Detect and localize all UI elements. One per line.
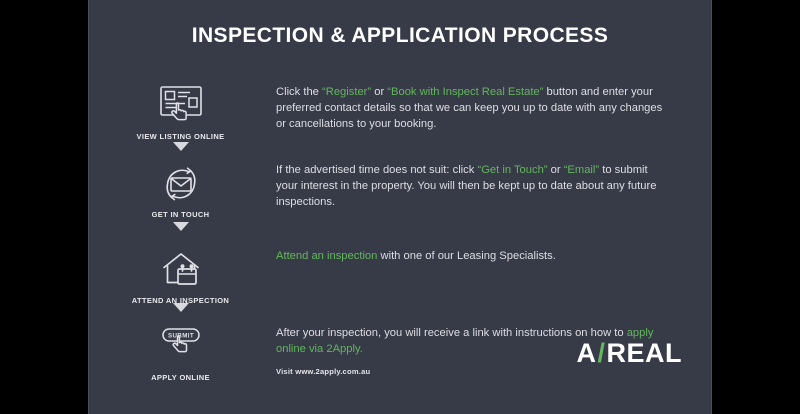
highlight-email: “Email” — [564, 164, 599, 176]
step-4-icon-column: SUBMIT APPLY ONLINE — [88, 325, 273, 382]
step-2-icon-column: GET IN TOUCH — [88, 162, 273, 219]
arrow-step-3-to-4 — [88, 303, 273, 312]
text-segment: If the advertised time does not suit: cl… — [276, 164, 477, 176]
text-segment: Click the — [276, 86, 322, 98]
logo-slash-icon: / — [597, 338, 605, 369]
submit-button-cursor-icon: SUBMIT — [152, 325, 210, 367]
highlight-book-with-ire: “Book with Inspect Real Estate” — [387, 86, 543, 98]
infographic-panel: INSPECTION & APPLICATION PROCESS — [88, 0, 712, 414]
page-title: INSPECTION & APPLICATION PROCESS — [88, 24, 712, 48]
text-segment: After your inspection, you will receive … — [276, 327, 627, 339]
highlight-register: “Register” — [322, 86, 371, 98]
envelope-refresh-icon — [152, 162, 210, 204]
highlight-get-in-touch: “Get in Touch” — [477, 164, 547, 176]
step-1-icon-column: VIEW LISTING ONLINE — [88, 84, 273, 141]
house-calendar-icon — [152, 248, 210, 290]
svg-text:SUBMIT: SUBMIT — [167, 333, 193, 340]
step-2-description: If the advertised time does not suit: cl… — [273, 162, 712, 211]
step-attend-an-inspection: ATTEND AN INSPECTION Attend an inspectio… — [88, 248, 712, 305]
step-1-description: Click the “Register” or “Book with Inspe… — [273, 84, 712, 133]
text-segment: or — [548, 164, 564, 176]
screenshot-stage: INSPECTION & APPLICATION PROCESS — [0, 0, 800, 414]
arrow-step-2-to-3 — [88, 222, 273, 231]
step-view-listing-online: VIEW LISTING ONLINE Click the “Register”… — [88, 84, 712, 141]
step-1-label: VIEW LISTING ONLINE — [137, 132, 225, 141]
chevron-down-icon — [173, 142, 189, 151]
step-get-in-touch: GET IN TOUCH If the advertised time does… — [88, 162, 712, 219]
step-3-icon-column: ATTEND AN INSPECTION — [88, 248, 273, 305]
logo-text-left: A — [576, 338, 596, 369]
chevron-down-icon — [173, 222, 189, 231]
text-segment: or — [371, 86, 387, 98]
areal-logo: A / REAL — [576, 338, 682, 369]
step-2-label: GET IN TOUCH — [152, 210, 210, 219]
step-3-description: Attend an inspection with one of our Lea… — [273, 248, 712, 264]
chevron-down-icon — [173, 303, 189, 312]
logo-text-right: REAL — [607, 338, 683, 369]
step-4-label: APPLY ONLINE — [151, 373, 210, 382]
listing-window-cursor-icon — [152, 84, 210, 126]
highlight-attend-an-inspection: Attend an inspection — [276, 250, 377, 262]
arrow-step-1-to-2 — [88, 142, 273, 151]
text-segment: with one of our Leasing Specialists. — [377, 250, 555, 262]
